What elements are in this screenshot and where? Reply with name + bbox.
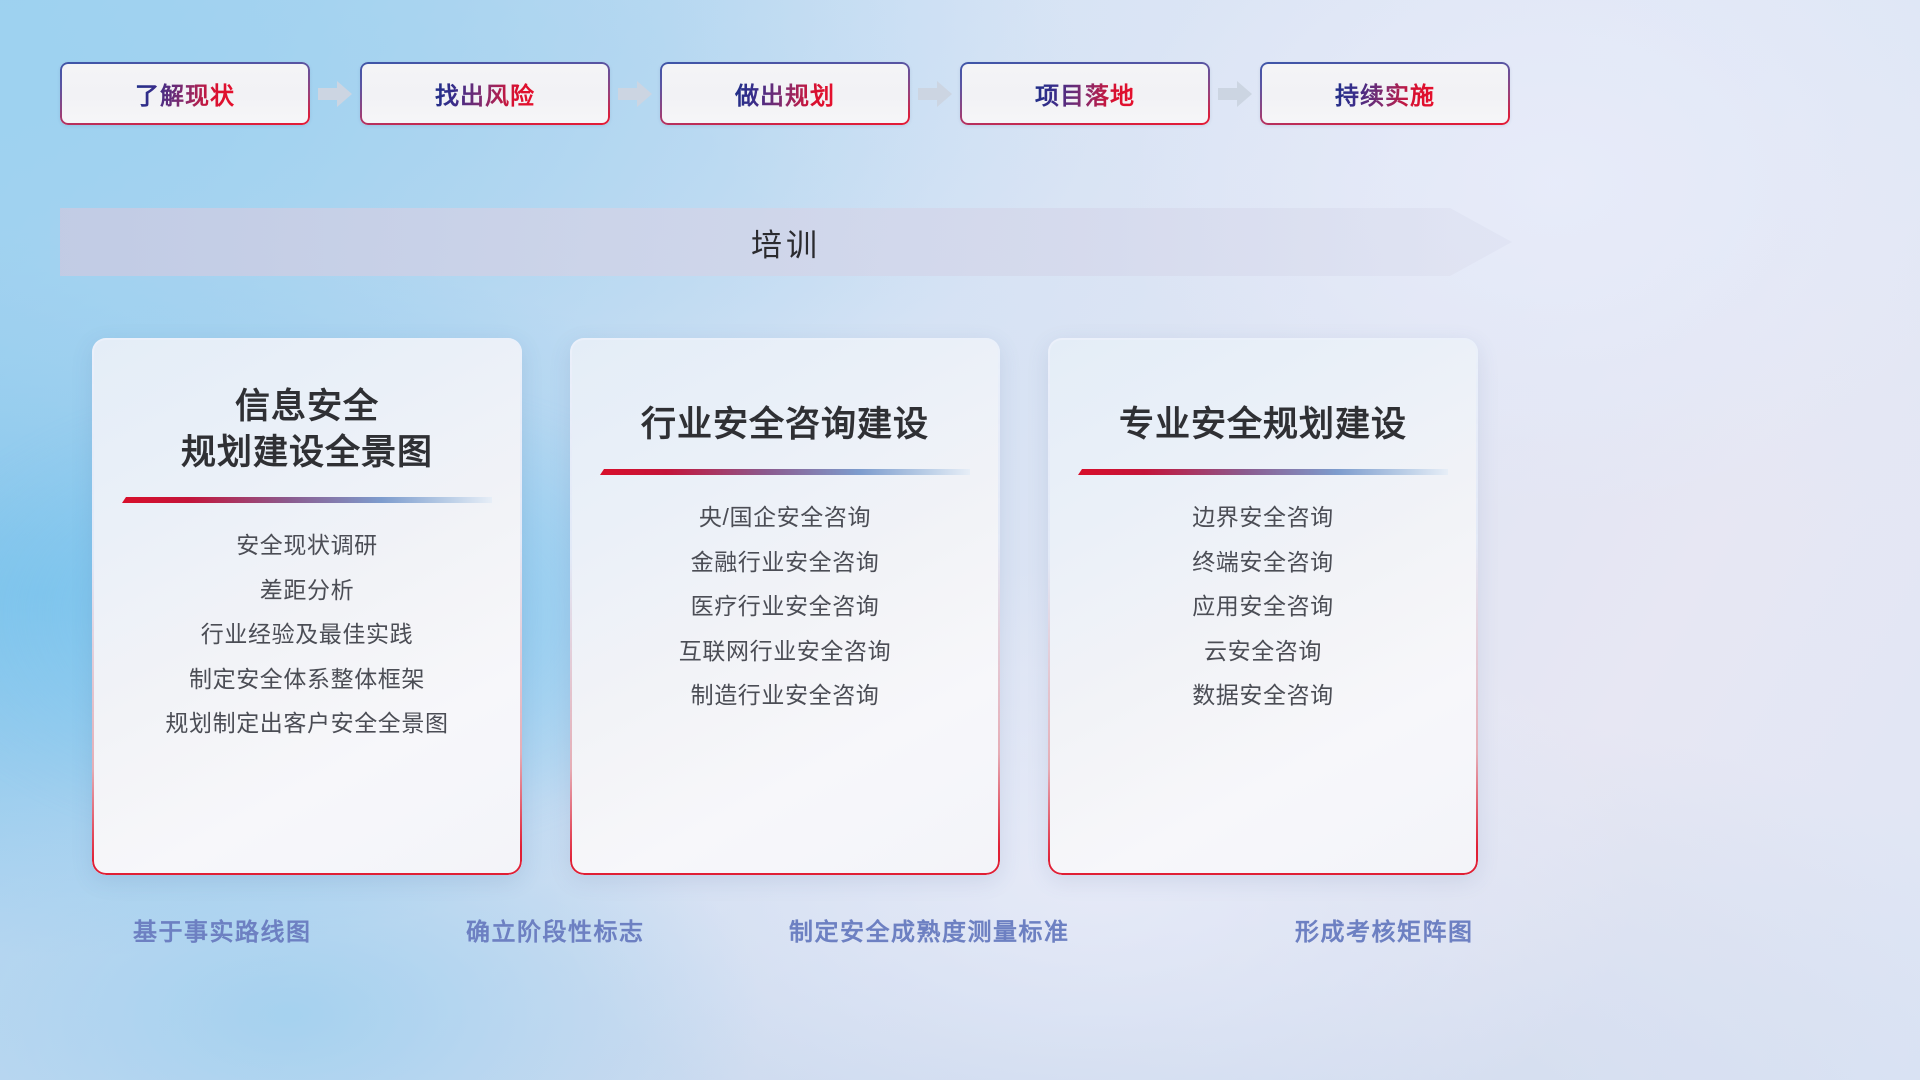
step-label-4: 项目落地 — [1035, 76, 1135, 111]
step-label-2: 找出风险 — [435, 76, 535, 111]
step-label-5: 持续实施 — [1335, 76, 1435, 111]
step-button-3[interactable]: 做出规划 — [660, 62, 910, 125]
list-item[interactable]: 差距分析 — [260, 573, 354, 608]
slide-stage: 了解现状找出风险做出规划项目落地持续实施 培训 信息安全 规划建设全景图安全现状… — [0, 0, 1920, 1080]
list-item[interactable]: 互联网行业安全咨询 — [679, 634, 891, 669]
card-divider-3 — [1078, 466, 1448, 478]
caption-row: 基于事实路线图确立阶段性标志制定安全成熟度测量标准形成考核矩阵图 — [0, 912, 1920, 962]
caption-3: 制定安全成熟度测量标准 — [789, 912, 1070, 947]
step-arrow-1 — [310, 62, 360, 125]
list-item[interactable]: 央/国企安全咨询 — [699, 500, 871, 535]
card-divider-wrap — [1048, 466, 1478, 478]
step-arrow-4 — [1210, 62, 1260, 125]
card-divider-wrap — [92, 494, 522, 506]
list-item[interactable]: 应用安全咨询 — [1192, 589, 1334, 624]
step-arrow-3 — [910, 62, 960, 125]
list-item[interactable]: 安全现状调研 — [236, 528, 378, 563]
caption-2: 确立阶段性标志 — [466, 912, 645, 947]
card-list-wrap: 边界安全咨询终端安全咨询应用安全咨询云安全咨询数据安全咨询 — [1048, 500, 1478, 713]
card-row: 信息安全 规划建设全景图安全现状调研差距分析行业经验及最佳实践制定安全体系整体框… — [92, 338, 1478, 875]
banner-label: 培训 — [60, 208, 1512, 276]
list-item[interactable]: 终端安全咨询 — [1192, 545, 1334, 580]
caption-4: 形成考核矩阵图 — [1295, 912, 1474, 947]
card-inner: 信息安全 规划建设全景图安全现状调研差距分析行业经验及最佳实践制定安全体系整体框… — [92, 338, 522, 875]
list-item[interactable]: 数据安全咨询 — [1192, 678, 1334, 713]
card-list-wrap: 安全现状调研差距分析行业经验及最佳实践制定安全体系整体框架规划制定出客户安全全景… — [92, 528, 522, 741]
service-card-1[interactable]: 信息安全 规划建设全景图安全现状调研差距分析行业经验及最佳实践制定安全体系整体框… — [92, 338, 522, 875]
list-item[interactable]: 边界安全咨询 — [1192, 500, 1334, 535]
training-banner: 培训 — [60, 208, 1512, 276]
list-item[interactable]: 医疗行业安全咨询 — [691, 589, 880, 624]
step-label-1: 了解现状 — [135, 76, 235, 111]
list-item[interactable]: 规划制定出客户安全全景图 — [165, 706, 448, 741]
arrow-right-icon — [618, 81, 652, 107]
list-item[interactable]: 金融行业安全咨询 — [691, 545, 880, 580]
card-divider-2 — [600, 466, 970, 478]
step-button-2[interactable]: 找出风险 — [360, 62, 610, 125]
service-card-3[interactable]: 专业安全规划建设边界安全咨询终端安全咨询应用安全咨询云安全咨询数据安全咨询 — [1048, 338, 1478, 875]
step-label-3: 做出规划 — [735, 76, 835, 111]
card-title-3: 专业安全规划建设 — [1048, 338, 1478, 448]
step-button-1[interactable]: 了解现状 — [60, 62, 310, 125]
arrow-right-icon — [1218, 81, 1252, 107]
step-button-4[interactable]: 项目落地 — [960, 62, 1210, 125]
card-divider-1 — [122, 494, 492, 506]
card-list-2: 央/国企安全咨询金融行业安全咨询医疗行业安全咨询互联网行业安全咨询制造行业安全咨… — [570, 500, 1000, 713]
card-divider-wrap — [570, 466, 1000, 478]
step-button-5[interactable]: 持续实施 — [1260, 62, 1510, 125]
list-item[interactable]: 制造行业安全咨询 — [691, 678, 880, 713]
arrow-right-icon — [318, 81, 352, 107]
process-step-flow: 了解现状找出风险做出规划项目落地持续实施 — [60, 62, 1512, 125]
card-list-1: 安全现状调研差距分析行业经验及最佳实践制定安全体系整体框架规划制定出客户安全全景… — [92, 528, 522, 741]
list-item[interactable]: 云安全咨询 — [1204, 634, 1322, 669]
caption-1: 基于事实路线图 — [133, 912, 312, 947]
card-list-3: 边界安全咨询终端安全咨询应用安全咨询云安全咨询数据安全咨询 — [1048, 500, 1478, 713]
list-item[interactable]: 制定安全体系整体框架 — [189, 662, 425, 697]
card-title-1: 信息安全 规划建设全景图 — [92, 338, 522, 476]
card-inner: 行业安全咨询建设央/国企安全咨询金融行业安全咨询医疗行业安全咨询互联网行业安全咨… — [570, 338, 1000, 875]
list-item[interactable]: 行业经验及最佳实践 — [201, 617, 413, 652]
service-card-2[interactable]: 行业安全咨询建设央/国企安全咨询金融行业安全咨询医疗行业安全咨询互联网行业安全咨… — [570, 338, 1000, 875]
arrow-right-icon — [918, 81, 952, 107]
card-title-2: 行业安全咨询建设 — [570, 338, 1000, 448]
card-list-wrap: 央/国企安全咨询金融行业安全咨询医疗行业安全咨询互联网行业安全咨询制造行业安全咨… — [570, 500, 1000, 713]
step-arrow-2 — [610, 62, 660, 125]
card-inner: 专业安全规划建设边界安全咨询终端安全咨询应用安全咨询云安全咨询数据安全咨询 — [1048, 338, 1478, 875]
